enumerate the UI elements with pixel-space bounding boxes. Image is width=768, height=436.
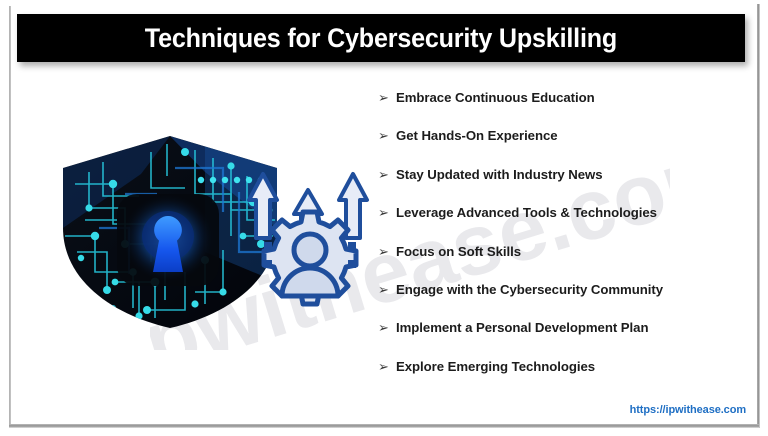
list-item[interactable]: ➢ Embrace Continuous Education — [378, 90, 748, 128]
list-item[interactable]: ➢ Leverage Advanced Tools & Technologies — [378, 205, 748, 243]
bullet-arrow-icon: ➢ — [378, 91, 396, 104]
slide-frame: Techniques for Cybersecurity Upskilling … — [0, 0, 768, 436]
bullet-arrow-icon: ➢ — [378, 283, 396, 296]
list-item-label: Implement a Personal Development Plan — [396, 320, 648, 335]
list-item[interactable]: ➢ Explore Emerging Technologies — [378, 359, 748, 397]
bullet-arrow-icon: ➢ — [378, 168, 396, 181]
gear-person-growth-icon — [245, 160, 375, 330]
bullet-arrow-icon: ➢ — [378, 245, 396, 258]
gear-icon — [264, 212, 356, 304]
bullet-arrow-icon: ➢ — [378, 360, 396, 373]
list-item-label: Get Hands-On Experience — [396, 128, 558, 143]
list-item-label: Explore Emerging Technologies — [396, 359, 595, 374]
frame-left-border — [9, 6, 11, 426]
list-item[interactable]: ➢ Engage with the Cybersecurity Communit… — [378, 282, 748, 320]
list-item[interactable]: ➢ Focus on Soft Skills — [378, 244, 748, 282]
list-item-label: Stay Updated with Industry News — [396, 167, 603, 182]
list-item-label: Engage with the Cybersecurity Community — [396, 282, 663, 297]
list-item-label: Focus on Soft Skills — [396, 244, 521, 259]
bullet-arrow-icon: ➢ — [378, 129, 396, 142]
bullet-arrow-icon: ➢ — [378, 206, 396, 219]
list-item[interactable]: ➢ Stay Updated with Industry News — [378, 167, 748, 205]
footer-url-link[interactable]: https://ipwithease.com — [630, 404, 746, 416]
list-item-label: Leverage Advanced Tools & Technologies — [396, 205, 657, 220]
frame-bottom-border — [9, 424, 759, 428]
frame-right-border — [757, 4, 760, 428]
bullet-arrow-icon: ➢ — [378, 321, 396, 334]
list-item-label: Embrace Continuous Education — [396, 90, 595, 105]
page-title: Techniques for Cybersecurity Upskilling — [145, 23, 617, 54]
list-item[interactable]: ➢ Implement a Personal Development Plan — [378, 320, 748, 358]
illustration — [55, 132, 375, 332]
techniques-list: ➢ Embrace Continuous Education ➢ Get Han… — [378, 90, 748, 397]
list-item[interactable]: ➢ Get Hands-On Experience — [378, 128, 748, 166]
title-bar: Techniques for Cybersecurity Upskilling — [17, 14, 745, 62]
